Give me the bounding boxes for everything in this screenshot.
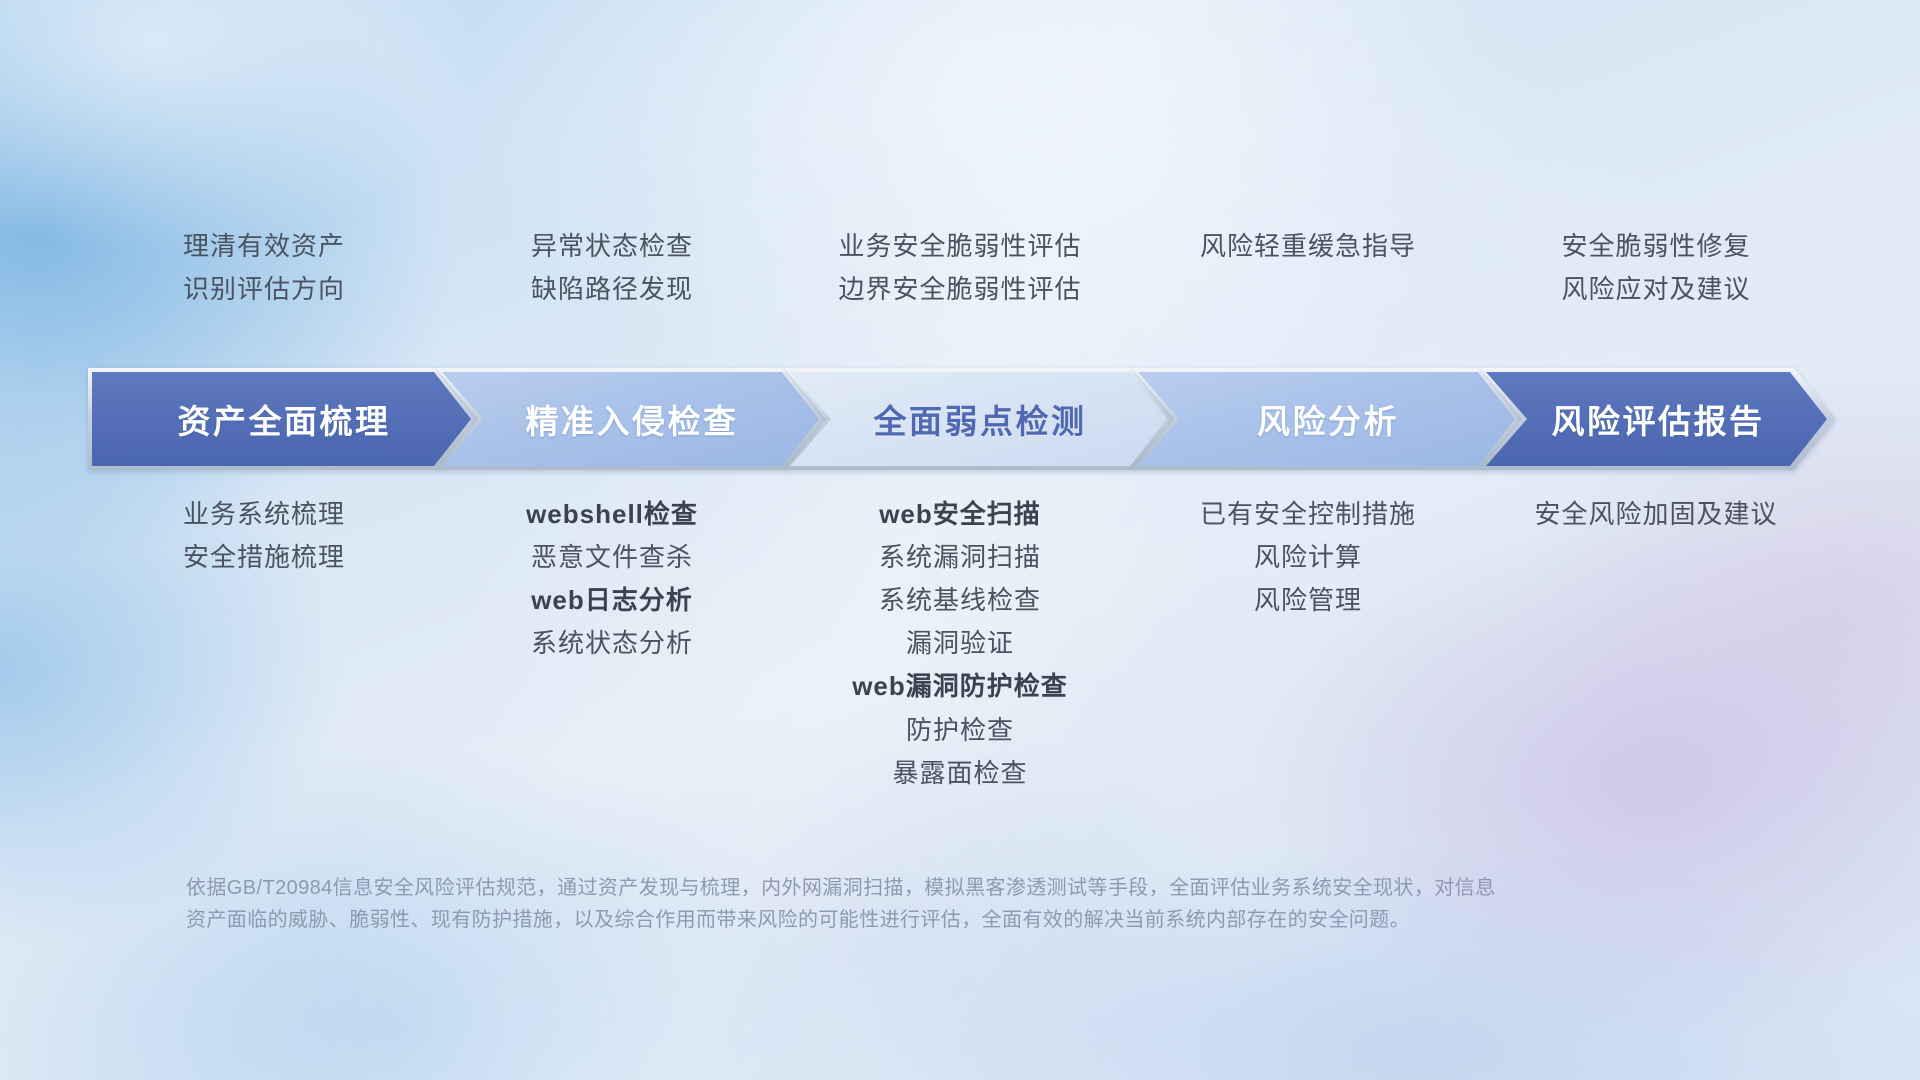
list-item: 风险计算: [1254, 543, 1362, 572]
diagram-content: 理清有效资产 识别评估方向 异常状态检查 缺陷路径发现 业务安全脆弱性评估 边界…: [90, 0, 1830, 1080]
list-item: 防护检查: [906, 716, 1014, 745]
top-captions-asset-inventory: 理清有效资产 识别评估方向: [90, 232, 438, 303]
bottom-list-weakness-detection: web安全扫描 系统漏洞扫描 系统基线检查 漏洞验证 web漏洞防护检查 防护检…: [786, 500, 1134, 788]
stage-label: 精准入侵检查: [526, 395, 739, 443]
stage-arrow-risk-analysis[interactable]: 风险分析: [1132, 368, 1524, 470]
list-item: 风险管理: [1254, 586, 1362, 615]
top-captions-intrusion-check: 异常状态检查 缺陷路径发现: [438, 232, 786, 303]
list-item: 已有安全控制措施: [1200, 500, 1416, 529]
top-caption-item: 理清有效资产: [183, 232, 345, 261]
stage-arrow-asset-inventory[interactable]: 资产全面梳理: [88, 368, 480, 470]
bottom-list-risk-report: 安全风险加固及建议: [1482, 500, 1830, 788]
process-arrow-banner: 资产全面梳理 精准入侵检查 全面弱点检测 风险分析: [88, 368, 1836, 470]
list-item: 业务系统梳理: [183, 500, 345, 529]
top-captions-risk-report: 安全脆弱性修复 风险应对及建议: [1482, 232, 1830, 303]
top-caption-item: 识别评估方向: [183, 275, 345, 304]
list-item: 恶意文件查杀: [531, 543, 693, 572]
bottom-list-risk-analysis: 已有安全控制措施 风险计算 风险管理: [1134, 500, 1482, 788]
list-item: web漏洞防护检查: [852, 672, 1068, 701]
list-item: 安全风险加固及建议: [1534, 500, 1777, 529]
list-item: 安全措施梳理: [183, 543, 345, 572]
list-item: web日志分析: [531, 586, 693, 615]
top-caption-item: 安全脆弱性修复: [1561, 232, 1750, 261]
list-item: 系统状态分析: [531, 629, 693, 658]
top-caption-item: 风险应对及建议: [1561, 275, 1750, 304]
stage-arrow-weakness-detection[interactable]: 全面弱点检测: [784, 368, 1176, 470]
footer-line-2: 资产面临的威胁、脆弱性、现有防护措施，以及综合作用而带来风险的可能性进行评估，全…: [186, 904, 1706, 936]
top-caption-item: 异常状态检查: [531, 232, 693, 261]
bottom-lists-row: 业务系统梳理 安全措施梳理 webshell检查 恶意文件查杀 web日志分析 …: [90, 500, 1830, 788]
list-item: web安全扫描: [879, 500, 1041, 529]
slide-canvas: 理清有效资产 识别评估方向 异常状态检查 缺陷路径发现 业务安全脆弱性评估 边界…: [0, 0, 1920, 1080]
list-item: 系统基线检查: [879, 586, 1041, 615]
top-captions-risk-analysis: 风险轻重缓急指导: [1134, 232, 1482, 303]
top-caption-item: 边界安全脆弱性评估: [838, 275, 1081, 304]
top-captions-row: 理清有效资产 识别评估方向 异常状态检查 缺陷路径发现 业务安全脆弱性评估 边界…: [90, 232, 1830, 303]
list-item: 暴露面检查: [892, 759, 1027, 788]
list-item: webshell检查: [526, 500, 698, 529]
top-caption-item: 业务安全脆弱性评估: [838, 232, 1081, 261]
top-captions-weakness-detection: 业务安全脆弱性评估 边界安全脆弱性评估: [786, 232, 1134, 303]
stage-label: 风险分析: [1257, 395, 1399, 443]
stage-arrow-risk-report[interactable]: 风险评估报告: [1480, 368, 1836, 470]
top-caption-item: 风险轻重缓急指导: [1200, 232, 1416, 261]
stage-label: 全面弱点检测: [874, 395, 1087, 443]
stage-label: 风险评估报告: [1552, 395, 1765, 443]
bottom-list-asset-inventory: 业务系统梳理 安全措施梳理: [90, 500, 438, 788]
bottom-list-intrusion-check: webshell检查 恶意文件查杀 web日志分析 系统状态分析: [438, 500, 786, 788]
list-item: 漏洞验证: [906, 629, 1014, 658]
stage-label: 资产全面梳理: [178, 395, 391, 443]
footer-line-1: 依据GB/T20984信息安全风险评估规范，通过资产发现与梳理，内外网漏洞扫描，…: [186, 872, 1706, 904]
list-item: 系统漏洞扫描: [879, 543, 1041, 572]
stage-arrow-intrusion-check[interactable]: 精准入侵检查: [436, 368, 828, 470]
top-caption-item: 缺陷路径发现: [531, 275, 693, 304]
footer-description: 依据GB/T20984信息安全风险评估规范，通过资产发现与梳理，内外网漏洞扫描，…: [186, 872, 1706, 937]
